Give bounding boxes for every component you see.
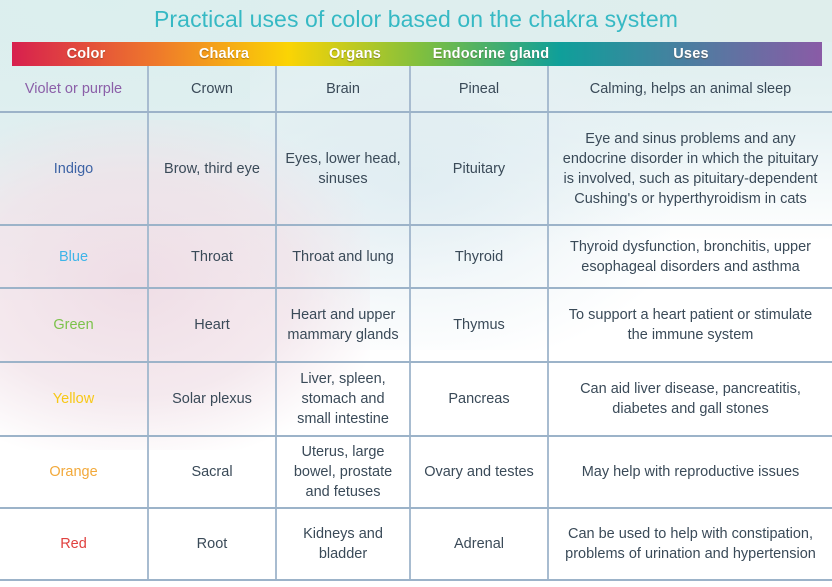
column-header-organs: Organs [288,42,422,66]
table-row: Orange Sacral Uterus, large bowel, prost… [0,436,832,508]
cell-gland: Pituitary [410,112,548,225]
cell-chakra: Solar plexus [148,362,276,436]
table-row: Violet or purple Crown Brain Pineal Calm… [0,66,832,112]
table-row: Blue Throat Throat and lung Thyroid Thyr… [0,225,832,288]
color-name-label: Indigo [54,161,94,177]
cell-color: Violet or purple [0,66,148,112]
cell-organs: Heart and upper mammary glands [276,288,410,362]
cell-color: Indigo [0,112,148,225]
cell-color: Orange [0,436,148,508]
cell-chakra: Brow, third eye [148,112,276,225]
cell-organs: Throat and lung [276,225,410,288]
column-header-uses: Uses [560,42,822,66]
cell-uses: May help with reproductive issues [548,436,832,508]
cell-chakra: Heart [148,288,276,362]
table-row: Green Heart Heart and upper mammary glan… [0,288,832,362]
cell-organs: Liver, spleen, stomach and small intesti… [276,362,410,436]
cell-uses: Can be used to help with constipation, p… [548,508,832,580]
table-row: Indigo Brow, third eye Eyes, lower head,… [0,112,832,225]
cell-chakra: Sacral [148,436,276,508]
cell-gland: Thyroid [410,225,548,288]
cell-color: Green [0,288,148,362]
color-name-label: Green [53,317,93,333]
chakra-color-table-page: Practical uses of color based on the cha… [0,0,832,587]
table-row: Yellow Solar plexus Liver, spleen, stoma… [0,362,832,436]
page-title: Practical uses of color based on the cha… [0,3,832,36]
table-body: Violet or purple Crown Brain Pineal Calm… [0,66,832,580]
color-name-label: Orange [49,464,97,480]
cell-gland: Adrenal [410,508,548,580]
column-header-chakra: Chakra [160,42,288,66]
cell-uses: Can aid liver disease, pancreatitis, dia… [548,362,832,436]
cell-gland: Pineal [410,66,548,112]
cell-color: Red [0,508,148,580]
color-name-label: Red [60,536,87,552]
cell-chakra: Crown [148,66,276,112]
color-name-label: Blue [59,249,88,265]
column-header-color: Color [12,42,160,66]
table-header-bar: Color Chakra Organs Endocrine gland Uses [12,42,822,66]
cell-uses: To support a heart patient or stimulate … [548,288,832,362]
color-name-label: Violet or purple [25,81,122,97]
cell-color: Blue [0,225,148,288]
cell-organs: Uterus, large bowel, prostate and fetuse… [276,436,410,508]
column-header-endocrine-gland: Endocrine gland [422,42,560,66]
cell-organs: Kidneys and bladder [276,508,410,580]
cell-uses: Thyroid dysfunction, bronchitis, upper e… [548,225,832,288]
color-name-label: Yellow [53,391,94,407]
table-row: Red Root Kidneys and bladder Adrenal Can… [0,508,832,580]
cell-chakra: Throat [148,225,276,288]
cell-chakra: Root [148,508,276,580]
cell-gland: Ovary and testes [410,436,548,508]
cell-organs: Eyes, lower head, sinuses [276,112,410,225]
cell-uses: Calming, helps an animal sleep [548,66,832,112]
cell-organs: Brain [276,66,410,112]
cell-gland: Thymus [410,288,548,362]
cell-uses: Eye and sinus problems and any endocrine… [548,112,832,225]
chakra-table: Violet or purple Crown Brain Pineal Calm… [0,66,832,581]
cell-gland: Pancreas [410,362,548,436]
cell-color: Yellow [0,362,148,436]
